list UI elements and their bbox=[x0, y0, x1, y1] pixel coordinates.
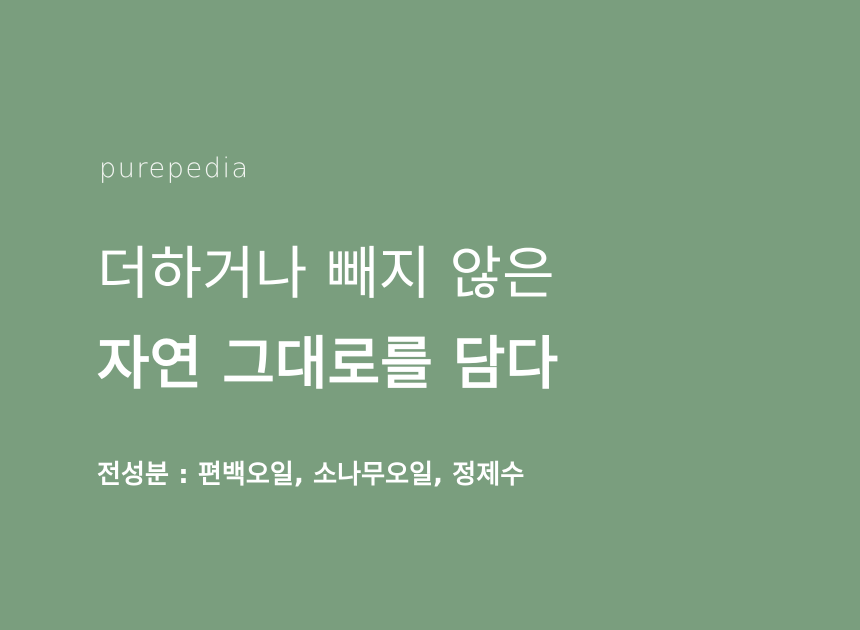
banner-content: purepedia 더하거나 빼지 않은 자연 그대로를 담다 전성분 : 편백… bbox=[97, 0, 797, 630]
headline-line-2: 자연 그대로를 담다 bbox=[97, 326, 797, 402]
headline-line-1: 더하거나 빼지 않은 bbox=[97, 236, 797, 312]
promo-banner: purepedia 더하거나 빼지 않은 자연 그대로를 담다 전성분 : 편백… bbox=[0, 0, 860, 630]
ingredients-caption: 전성분 : 편백오일, 소나무오일, 정제수 bbox=[97, 456, 524, 494]
headline: 더하거나 빼지 않은 자연 그대로를 담다 bbox=[97, 236, 797, 402]
brand-wordmark: purepedia bbox=[99, 152, 250, 186]
